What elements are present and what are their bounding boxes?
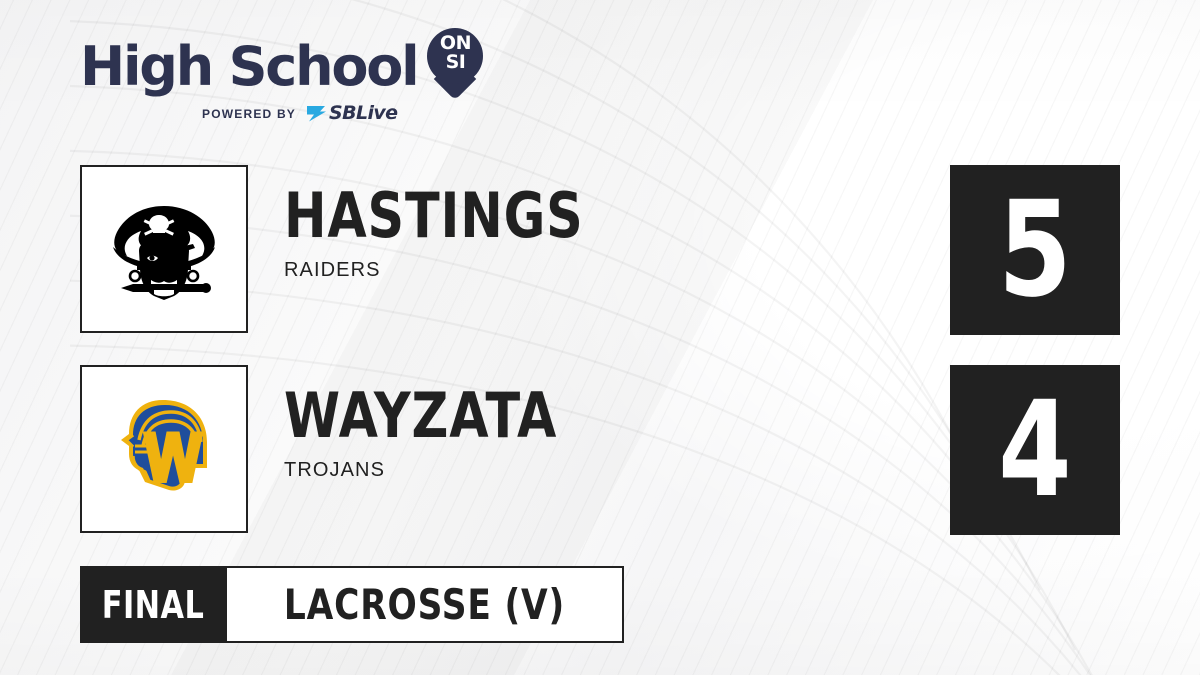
team-info-wayzata: WAYZATA TROJANS: [284, 383, 904, 482]
score-box-hastings: 5: [950, 165, 1120, 335]
sblive-bolt-icon: [305, 104, 327, 123]
team-logo-box-hastings: [80, 165, 248, 333]
team-mascot: TROJANS: [284, 459, 904, 482]
powered-by-row: POWERED BY SBLive: [202, 104, 510, 123]
game-status-bar: FINAL LACROSSE (V): [80, 566, 624, 643]
team-name: WAYZATA: [284, 383, 792, 449]
powered-by-label: POWERED BY: [202, 107, 296, 121]
trojan-helmet-logo-icon: [99, 384, 229, 514]
status-badge-label: FINAL: [102, 586, 204, 624]
team-row-away: WAYZATA TROJANS 4: [0, 365, 1200, 535]
score-value: 5: [998, 184, 1071, 316]
sblive-logo: SBLive: [305, 104, 397, 123]
brand-logo-row: High School ON SI: [80, 36, 510, 98]
score-box-wayzata: 4: [950, 365, 1120, 535]
team-row-home: HASTINGS RAIDERS 5: [0, 165, 1200, 335]
scoreboard-graphic: High School ON SI POWERED BY SBLive: [0, 0, 1200, 675]
on-si-pin-line-2: SI: [427, 53, 483, 72]
team-info-hastings: HASTINGS RAIDERS: [284, 183, 904, 282]
status-badge: FINAL: [80, 566, 227, 643]
team-logo-box-wayzata: [80, 365, 248, 533]
sport-label: LACROSSE (V): [284, 584, 565, 626]
team-mascot: RAIDERS: [284, 259, 904, 282]
sport-label-box: LACROSSE (V): [227, 566, 624, 643]
pirate-raider-logo-icon: [99, 184, 229, 314]
score-value: 4: [998, 384, 1071, 516]
on-si-pin-icon: ON SI: [427, 28, 483, 102]
brand-wordmark: High School: [80, 38, 417, 96]
team-name: HASTINGS: [284, 183, 792, 249]
brand-header: High School ON SI POWERED BY SBLive: [80, 36, 510, 136]
sblive-wordmark: SBLive: [329, 104, 397, 123]
